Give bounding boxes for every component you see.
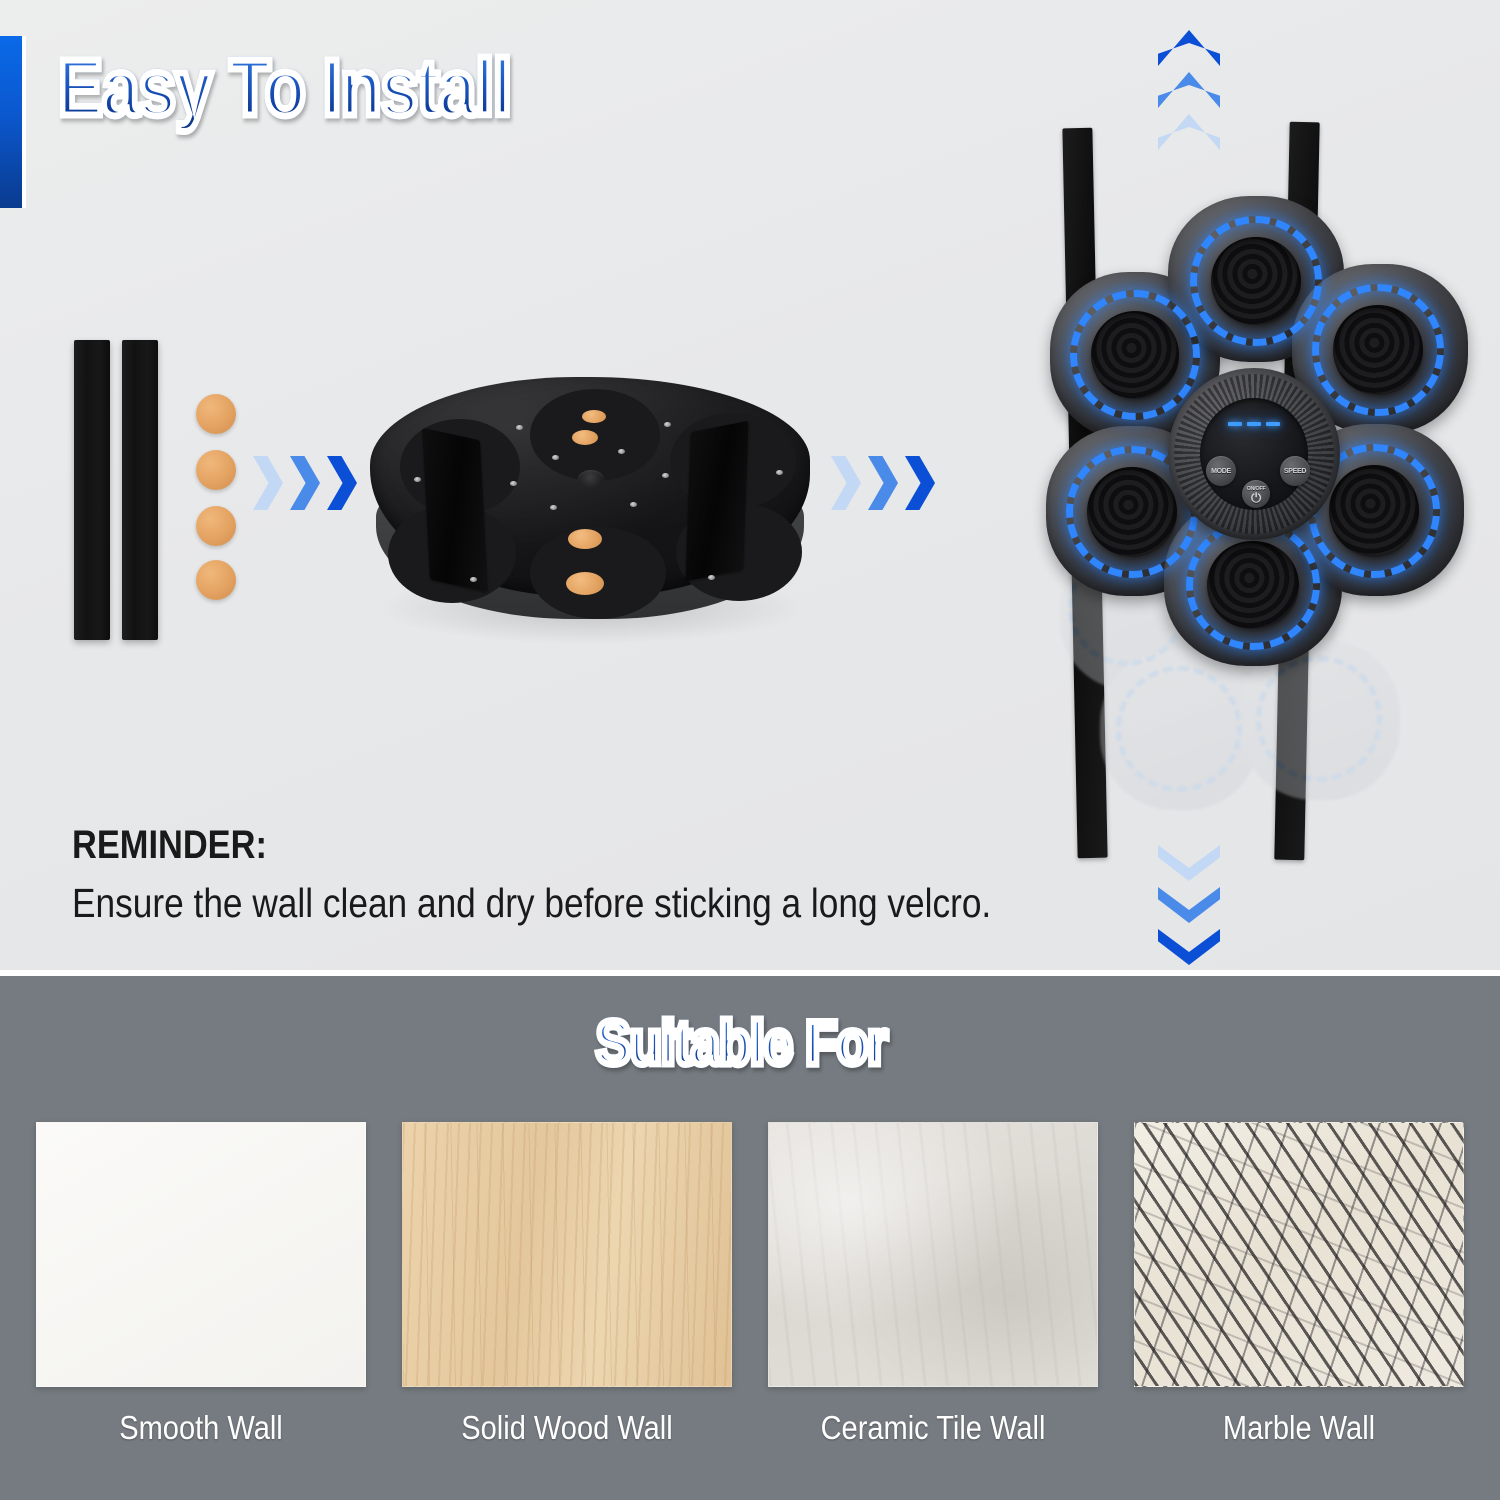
plate-top-surface — [370, 377, 810, 597]
target-pad[interactable] — [1312, 284, 1444, 416]
plate-velcro-strip — [422, 428, 488, 592]
adhesive-pad — [196, 560, 236, 600]
chevron-right-icon — [327, 456, 357, 510]
swatch-label: Smooth Wall — [56, 1409, 346, 1447]
target-pad[interactable] — [1070, 290, 1200, 420]
arrow-right-icon — [831, 456, 935, 510]
screw-hole — [664, 422, 671, 427]
accent-bar — [0, 36, 26, 208]
plate-adhesive-pad — [566, 572, 604, 595]
plate-center-hub — [578, 470, 604, 488]
velcro-strip — [74, 340, 110, 640]
music-boxing-machine: MODE SPEED ON/OFF ⏻ — [930, 100, 1460, 890]
swatch-solid-wood-wall: Solid Wood Wall — [402, 1122, 732, 1447]
swatch-smooth-wall: Smooth Wall — [36, 1122, 366, 1447]
plate-velcro-strip — [685, 421, 748, 581]
plate-adhesive-pad — [572, 430, 598, 445]
pad-core — [1329, 465, 1419, 556]
chevron-up-icon — [1158, 30, 1220, 66]
machine-body: MODE SPEED ON/OFF ⏻ — [1020, 180, 1450, 700]
reminder-block: REMINDER: Ensure the wall clean and dry … — [72, 822, 1152, 930]
pad-core — [1333, 305, 1423, 395]
swatch-ceramic-tile-wall: Ceramic Tile Wall — [768, 1122, 1098, 1447]
display-screen: MODE SPEED ON/OFF ⏻ — [1200, 398, 1308, 510]
plate-adhesive-pad — [582, 410, 606, 423]
chevron-down-icon — [1158, 887, 1220, 923]
screw-hole — [550, 505, 557, 510]
screw-hole — [552, 455, 559, 460]
screw-hole — [470, 577, 477, 582]
screw-hole — [662, 473, 669, 478]
reminder-text: Ensure the wall clean and dry before sti… — [72, 876, 1001, 930]
swatch-label: Marble Wall — [1154, 1409, 1444, 1447]
swatch-label: Ceramic Tile Wall — [788, 1409, 1078, 1447]
swatch-label: Solid Wood Wall — [422, 1409, 712, 1447]
adhesive-pad — [196, 450, 236, 490]
target-pad[interactable] — [1190, 216, 1322, 346]
screw-hole — [630, 502, 637, 507]
display-dash — [1228, 422, 1242, 426]
pad-core — [1087, 467, 1177, 557]
install-section: Easy To Install — [0, 0, 1500, 970]
wall-mounting-plate — [360, 355, 830, 665]
speed-button[interactable]: SPEED — [1280, 456, 1310, 486]
chevron-down-icon — [1158, 929, 1220, 965]
wall-type-list: Smooth Wall Solid Wood Wall Ceramic Tile… — [0, 1122, 1500, 1447]
plate-adhesive-pad — [568, 529, 602, 549]
chevron-right-icon — [290, 456, 320, 510]
display-dash — [1247, 422, 1261, 426]
pad-core — [1091, 311, 1179, 399]
power-button[interactable]: ON/OFF ⏻ — [1242, 480, 1270, 508]
screw-hole — [708, 575, 715, 580]
mode-button[interactable]: MODE — [1206, 456, 1236, 486]
adhesive-pad — [196, 394, 236, 434]
chevron-right-icon — [868, 456, 898, 510]
screw-hole — [618, 449, 625, 454]
pad-core — [1211, 237, 1301, 325]
chevron-right-icon — [253, 456, 283, 510]
display-dash — [1266, 422, 1280, 426]
chevron-down-icon — [1158, 845, 1220, 881]
arrow-down-icon — [1158, 845, 1220, 965]
reminder-label: REMINDER: — [72, 822, 1001, 868]
control-panel[interactable]: MODE SPEED ON/OFF ⏻ — [1168, 368, 1340, 540]
swatch-image — [1134, 1122, 1464, 1387]
pad-core — [1207, 541, 1298, 629]
screw-hole — [510, 481, 517, 486]
swatch-image — [768, 1122, 1098, 1387]
swatch-image — [36, 1122, 366, 1387]
swatch-marble-wall: Marble Wall — [1134, 1122, 1464, 1447]
suitable-for-title: Suitable For — [596, 1008, 887, 1080]
screw-hole — [414, 477, 421, 482]
power-icon: ⏻ — [1251, 492, 1261, 503]
display-readout — [1222, 416, 1286, 432]
screw-hole — [776, 470, 783, 475]
swatch-image — [402, 1122, 732, 1387]
page-title: Easy To Install — [58, 42, 511, 134]
velcro-strip — [122, 340, 158, 640]
screw-hole — [516, 425, 523, 430]
adhesive-pad — [196, 506, 236, 546]
arrow-right-icon — [253, 456, 357, 510]
chevron-right-icon — [831, 456, 861, 510]
